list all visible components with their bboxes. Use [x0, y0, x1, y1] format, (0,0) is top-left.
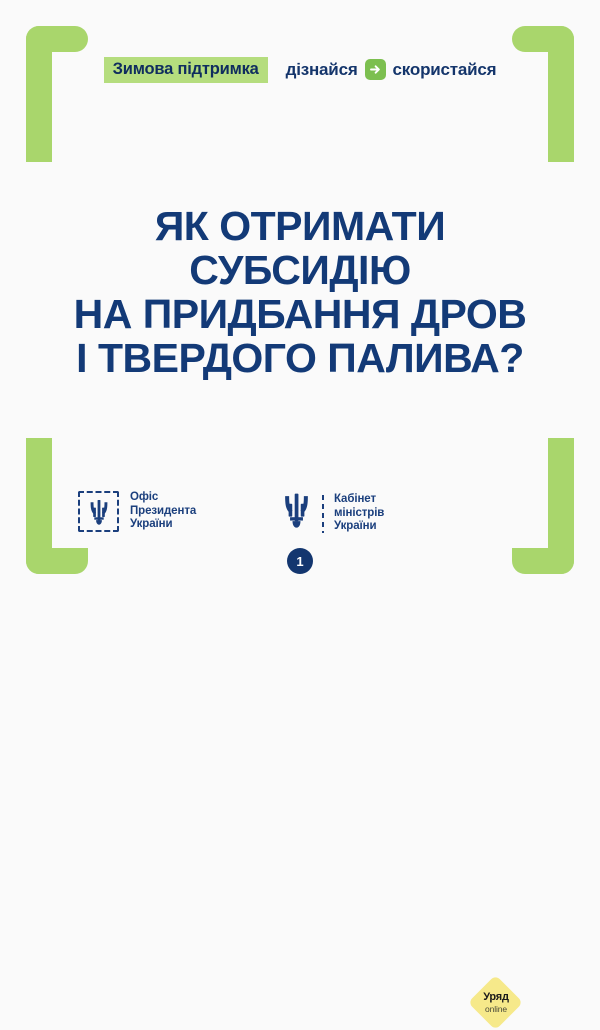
title-line-1: ЯК ОТРИМАТИ	[0, 204, 600, 248]
poster-canvas: Зимова підтримка дізнайся скористайся ЯК…	[0, 0, 600, 600]
arrow-right-icon	[365, 59, 386, 80]
logo-line-1: Офіс	[130, 491, 158, 503]
title-line-3: НА ПРИДБАННЯ ДРОВ	[0, 292, 600, 336]
uryad-sub-label: online	[485, 1005, 507, 1014]
logo-uryad-online-text: Уряд online	[470, 977, 522, 1029]
logo-divider	[322, 495, 324, 533]
corner-bracket-top-left	[26, 26, 88, 162]
logo-president-office-text: Офіс Президента України	[130, 491, 196, 532]
logo-row: Офіс Президента України	[0, 487, 600, 547]
bracket-horizontal-arm	[512, 26, 574, 52]
page-title: ЯК ОТРИМАТИ СУБСИДІЮ НА ПРИДБАННЯ ДРОВ І…	[0, 204, 600, 380]
title-line-4: І ТВЕРДОГО ПАЛИВА?	[0, 336, 600, 380]
corner-bracket-top-right	[512, 26, 574, 162]
tagline-after: скористайся	[393, 60, 497, 80]
bracket-horizontal-arm	[26, 548, 88, 574]
logo-line-1: Кабінет	[334, 493, 376, 505]
logo-cabinet-of-ministers-text: Кабінет міністрів України	[334, 493, 384, 534]
uryad-main-label: Уряд	[483, 992, 509, 1004]
logo-cabinet-of-ministers: Кабінет міністрів України	[281, 491, 384, 536]
logo-uryad-online: Уряд online	[470, 977, 522, 1029]
header-row: Зимова підтримка дізнайся скористайся	[0, 57, 600, 83]
logo-president-office: Офіс Президента України	[78, 491, 196, 532]
logo-line-3: України	[334, 520, 376, 532]
ukraine-trident-icon	[281, 491, 312, 536]
bracket-horizontal-arm	[26, 26, 88, 52]
logo-line-2: Президента	[130, 505, 196, 517]
tagline: дізнайся скористайся	[286, 59, 497, 80]
logo-line-3: України	[130, 518, 172, 530]
title-line-2: СУБСИДІЮ	[0, 248, 600, 292]
logo-line-2: міністрів	[334, 507, 384, 519]
bracket-horizontal-arm	[512, 548, 574, 574]
tagline-before: дізнайся	[286, 60, 358, 80]
page-number-badge: 1	[287, 548, 313, 574]
ukraine-trident-stamp-icon	[78, 491, 119, 532]
winter-support-badge: Зимова підтримка	[104, 57, 268, 83]
